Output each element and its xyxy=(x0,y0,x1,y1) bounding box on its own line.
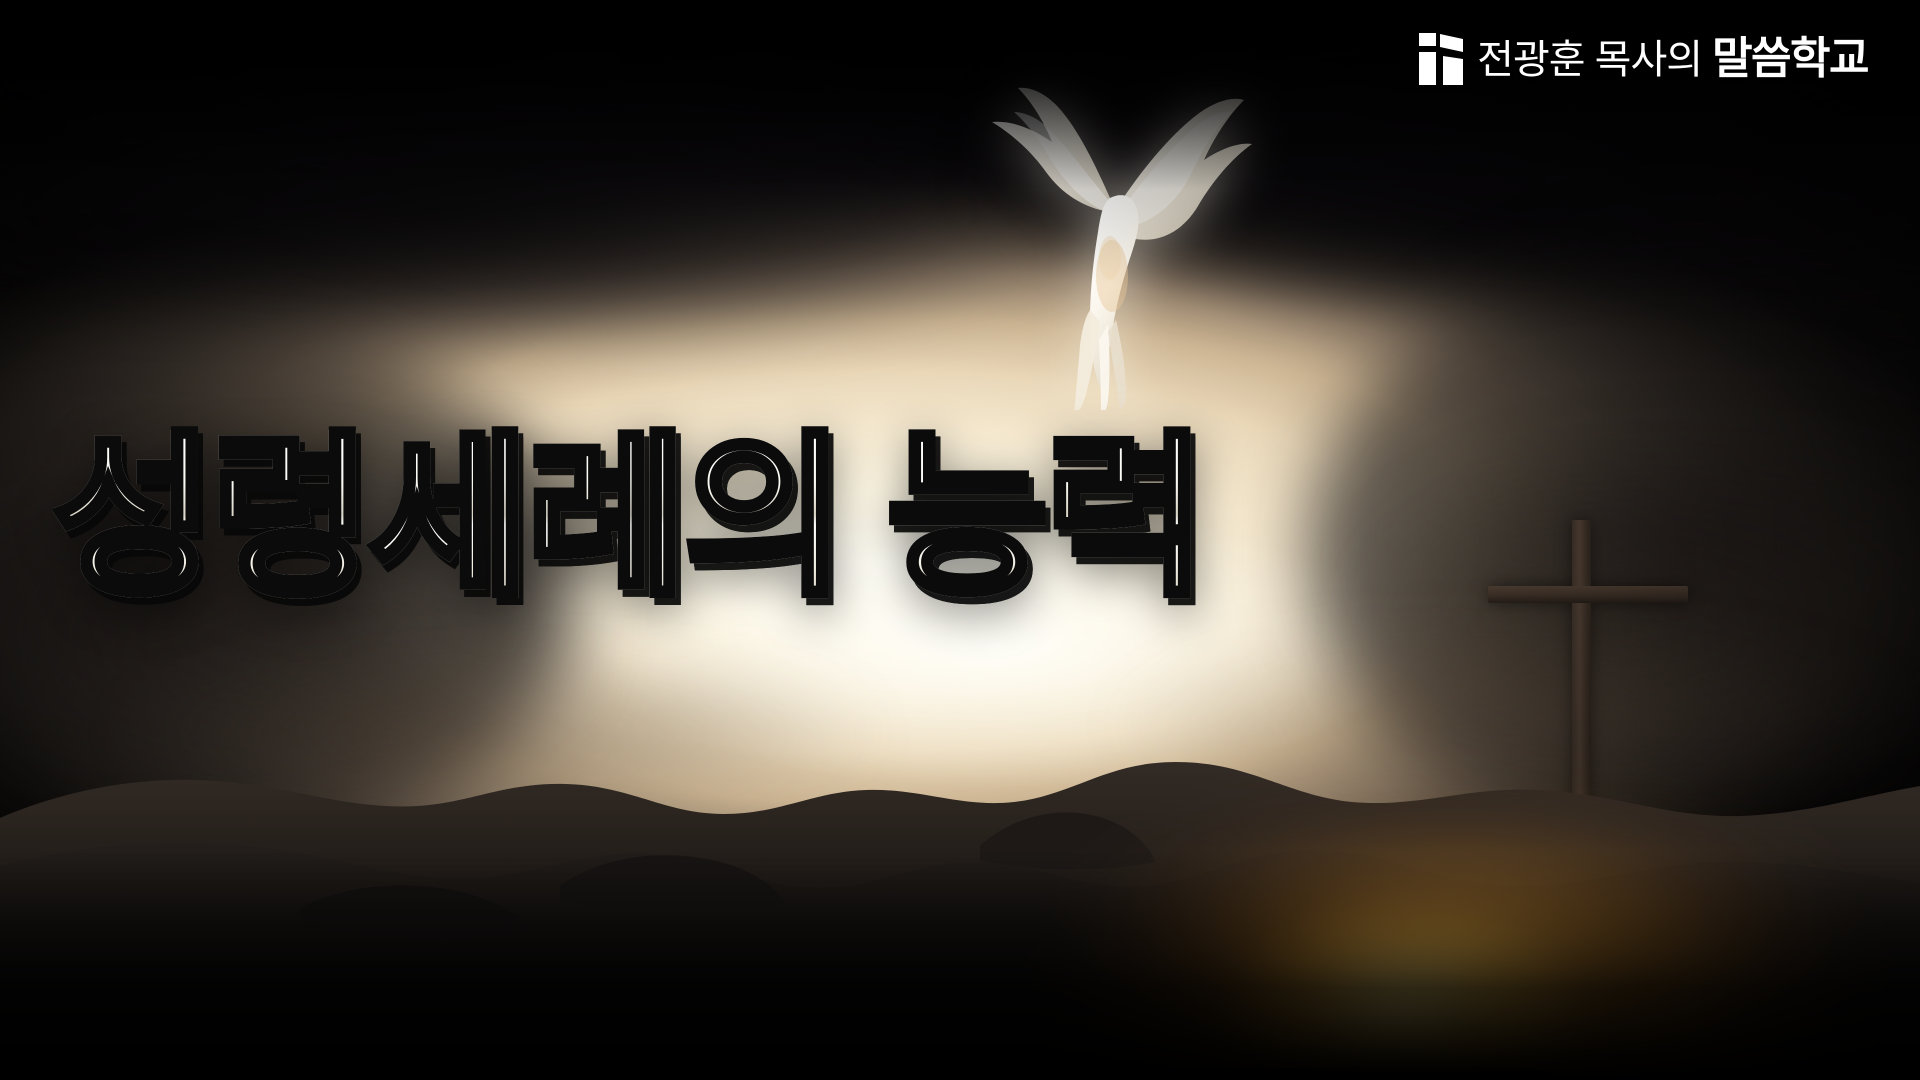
title-block: 성령세례의 능력 2015.007.05-2015.08.15 사랑제일교회 주… xyxy=(52,430,1372,606)
sermon-title-card: 전광훈 목사의 말씀학교 성령세례의 능력 2015.007.05-2015.0… xyxy=(0,0,1920,1080)
brand-logo[interactable]: 전광훈 목사의 말씀학교 xyxy=(1419,26,1868,92)
cloud-wisp-lower-left xyxy=(115,648,883,821)
logo-prefix-text: 전광훈 목사의 xyxy=(1477,40,1702,80)
logo-brand-text: 말씀학교 xyxy=(1712,37,1868,81)
cloud-wisp-lower-right xyxy=(1114,626,1920,820)
open-book-pillars-icon xyxy=(1419,33,1463,85)
sermon-title: 성령세례의 능력 xyxy=(52,430,1372,606)
